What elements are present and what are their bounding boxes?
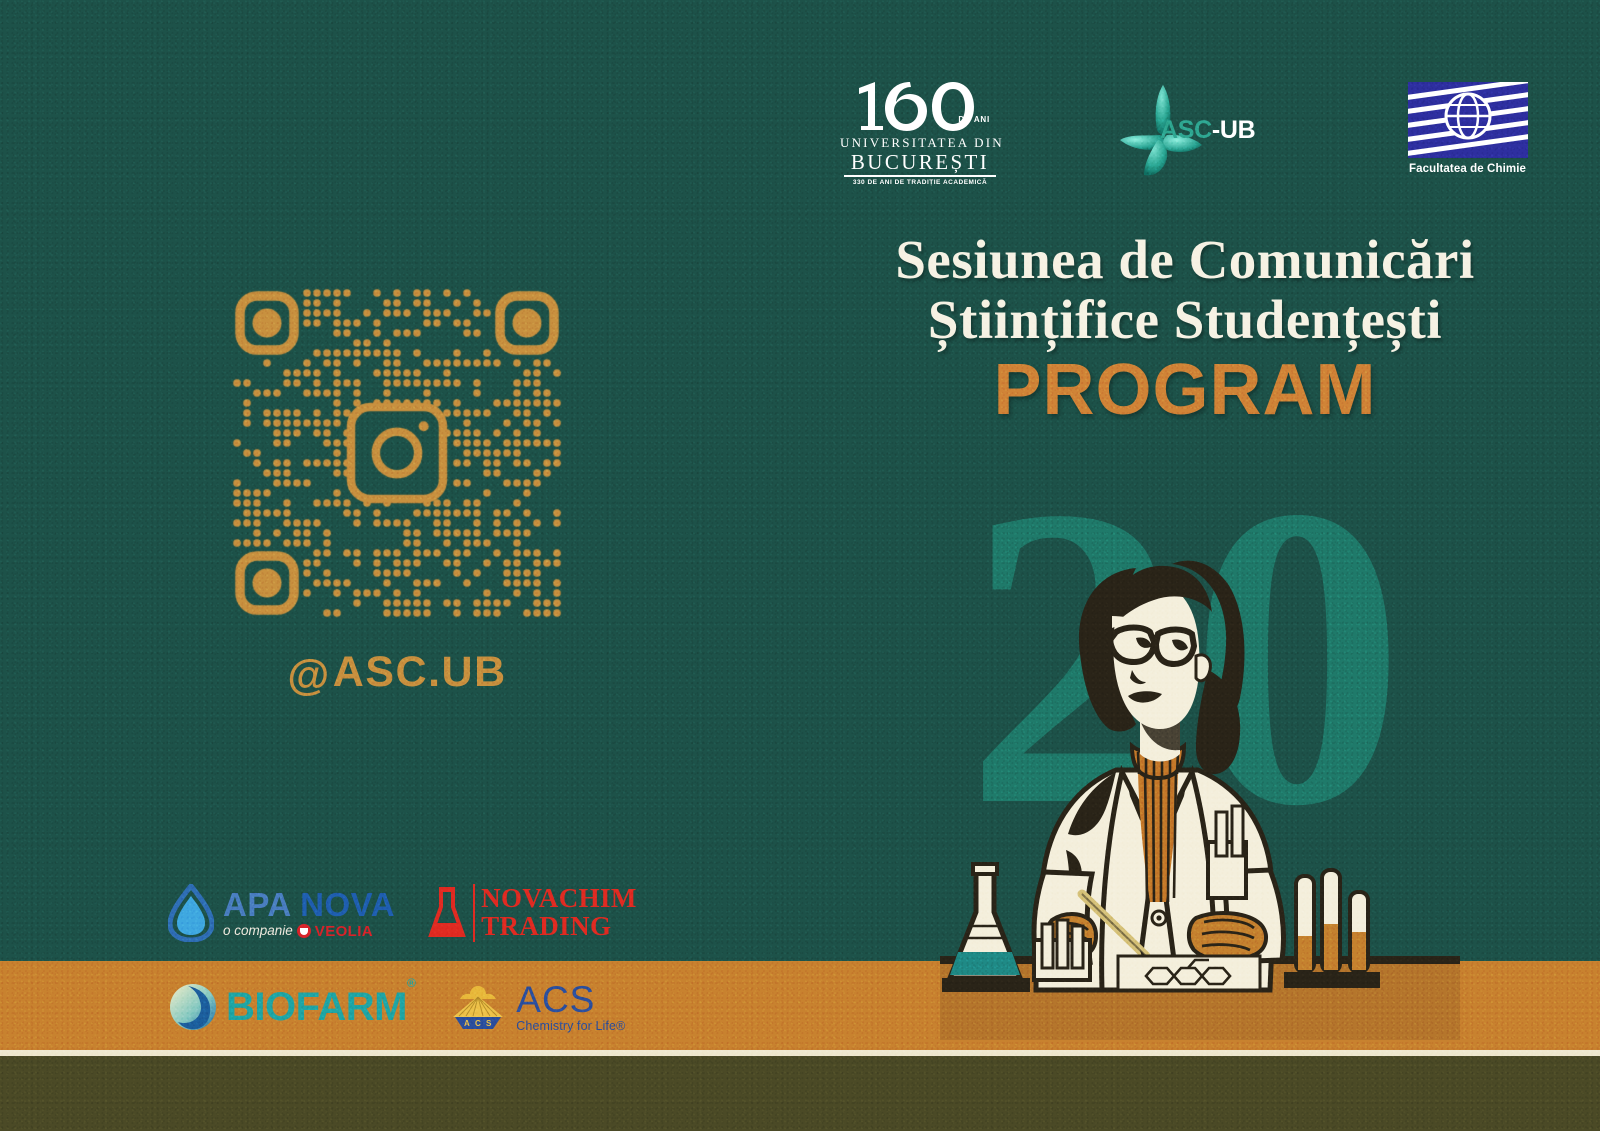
asc-ub-wordmark: ASC-UB [1160,116,1255,145]
nova-word: NOVA [300,886,395,923]
svg-text:A: A [464,1019,470,1028]
university-logo: DE ANI UNIVERSITATEA DIN BUCUREȘTI 330 D… [840,80,1000,186]
novachim-line-2: TRADING [481,913,637,941]
ub-divider [844,175,996,177]
biofarm-text: BIOFARM [226,985,407,1029]
ub-line-bucuresti: BUCUREȘTI [840,151,1000,173]
asc-word-white: -UB [1212,116,1256,144]
ub-160-anniversary-icon: DE ANI [840,80,1000,132]
program-heading: PROGRAM [820,354,1550,426]
water-drop-icon [168,884,214,942]
apa-nova-sub-text: o companie [223,924,293,938]
sponsor-acs: ACS ACS Chemistry for Life® [449,981,625,1033]
handle-text: ASC.UB [333,648,507,696]
veolia-word: VEOLIA [315,924,373,939]
biofarm-registered: ® [407,976,415,990]
biofarm-wordmark: BIOFARM® [226,985,415,1030]
female-chemist-illustration [940,520,1460,1040]
ub-de-ani-label: DE ANI [958,115,990,124]
veolia-icon [297,924,311,938]
ub-line-universitatea: UNIVERSITATEA DIN [840,135,1000,151]
sponsor-row-top: APA NOVA o companie VEOLIA NOVACHIM TRAD… [168,878,638,948]
title-block: Sesiunea de Comunicări Științifice Stude… [820,232,1550,426]
sponsor-novachim-trading: NOVACHIM TRADING [427,884,637,942]
apa-word: APA [223,886,291,923]
acs-acronym: ACS [516,981,625,1018]
instagram-qr-code[interactable] [232,288,562,618]
instagram-handle[interactable]: @ASC.UB [232,648,562,697]
poster-root: DE ANI UNIVERSITATEA DIN BUCUREȘTI 330 D… [0,0,1600,1131]
novachim-line-1: NOVACHIM [481,885,637,913]
qr-panel[interactable]: @ASC.UB [232,288,562,697]
flask-icon [427,885,467,941]
acs-tagline: Chemistry for Life® [516,1020,625,1033]
sponsor-apa-nova: APA NOVA o companie VEOLIA [168,884,395,942]
novachim-wordmark: NOVACHIM TRADING [481,885,637,940]
title-line-1: Sesiunea de Comunicări [820,232,1550,288]
globe-staff-lines-icon [1408,82,1528,158]
sponsor-row-bottom: BIOFARM® ACS ACS Chemistry for Life® [168,976,638,1038]
faculty-logo: Facultatea de Chimie [1400,82,1535,175]
asc-word-teal: ASC [1160,116,1212,144]
apa-nova-subtitle: o companie VEOLIA [223,924,395,939]
biofarm-sphere-icon [168,982,218,1032]
faculty-label: Facultatea de Chimie [1400,163,1535,175]
title-line-2: Științifice Studențești [820,292,1550,348]
sponsor-biofarm: BIOFARM® [168,982,415,1032]
svg-text:S: S [486,1019,492,1028]
asc-ub-logo: ASC-UB [1110,78,1300,188]
at-glyph: @ [287,651,330,700]
apa-nova-wordmark: APA NOVA [223,888,395,921]
acs-eagle-icon: ACS [449,983,507,1031]
svg-text:C: C [475,1019,481,1028]
novachim-divider [473,884,475,942]
header-logo-row: DE ANI UNIVERSITATEA DIN BUCUREȘTI 330 D… [820,74,1540,199]
bottom-olive-band [0,1056,1600,1131]
ub-line-traditie: 330 DE ANI DE TRADIȚIE ACADEMICĂ [840,179,1000,186]
